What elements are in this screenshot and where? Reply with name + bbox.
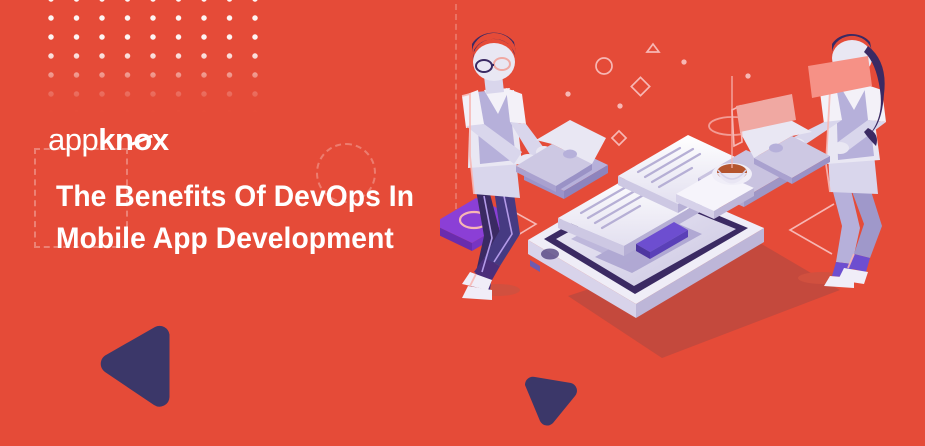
title-line-1: The Benefits Of DevOps In [56, 176, 413, 218]
logo-slashed-o-icon: o [133, 124, 151, 155]
logo-text-app: app [48, 122, 98, 157]
hero-illustration [440, 28, 910, 428]
page-title: The Benefits Of DevOps In Mobile App Dev… [56, 176, 413, 260]
logo-text-kn: kn [98, 122, 133, 157]
triangle-left-icon [93, 322, 177, 410]
floating-geometric-shapes [566, 44, 750, 145]
blog-banner: appknox The Benefits Of DevOps In Mobile… [0, 0, 925, 446]
appknox-logo: appknox [48, 124, 169, 155]
title-line-2: Mobile App Development [56, 218, 413, 260]
logo-text-x: x [152, 122, 169, 157]
dot-grid-icon [48, 0, 260, 112]
